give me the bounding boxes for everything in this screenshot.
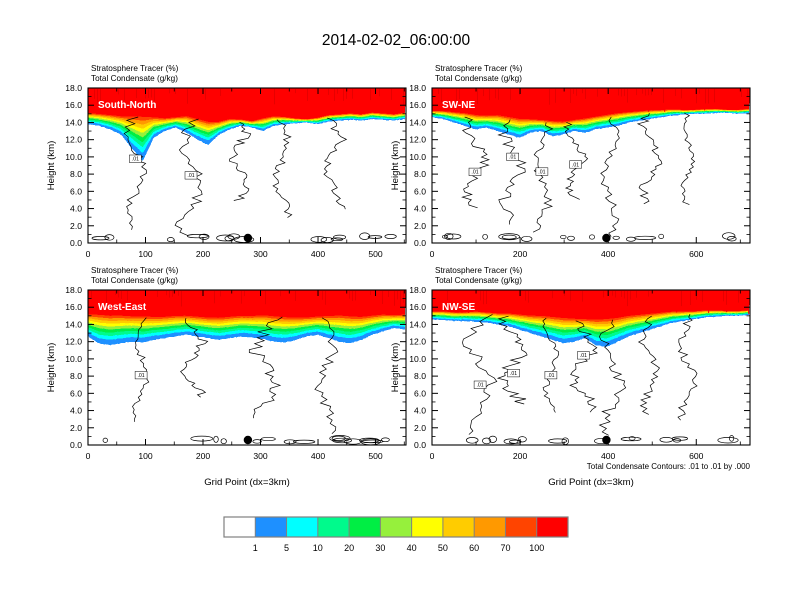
y-tick-label: 2.0 — [70, 423, 82, 433]
site-marker — [244, 234, 252, 242]
colorbar-segment — [443, 517, 475, 537]
y-tick-label: 8.0 — [414, 169, 426, 179]
colorbar-segment — [318, 517, 350, 537]
colorbar-tick-label: 30 — [375, 543, 385, 553]
site-marker — [602, 234, 610, 242]
y-tick-label: 8.0 — [414, 371, 426, 381]
y-tick-label: 16.0 — [409, 302, 426, 312]
contour-value-label: .01 — [536, 168, 548, 176]
x-tick-label: 600 — [689, 249, 704, 259]
panel-header-line: Total Condensate (g/kg) — [91, 74, 178, 83]
y-axis-label: Height (km) — [46, 141, 57, 191]
panel-west-east: Stratosphere Tracer (%)Total Condensate … — [46, 266, 406, 461]
y-tick-label: 6.0 — [414, 388, 426, 398]
x-tick-label: 600 — [689, 451, 704, 461]
y-tick-label: 18.0 — [65, 285, 82, 295]
panel-header-line: Stratosphere Tracer (%) — [91, 64, 179, 73]
y-tick-label: 16.0 — [65, 100, 82, 110]
colorbar-segment — [287, 517, 319, 537]
x-tick-label: 0 — [430, 451, 435, 461]
panel-header-line: Stratosphere Tracer (%) — [435, 64, 523, 73]
y-tick-label: 2.0 — [414, 221, 426, 231]
x-tick-label: 300 — [253, 451, 268, 461]
colorbar-segment — [537, 517, 569, 537]
site-marker — [602, 436, 610, 444]
colorbar-segment — [412, 517, 444, 537]
x-tick-label: 0 — [86, 249, 91, 259]
panel-south-north: Stratosphere Tracer (%)Total Condensate … — [46, 64, 406, 259]
y-tick-label: 4.0 — [70, 204, 82, 214]
x-tick-label: 400 — [311, 249, 326, 259]
y-tick-label: 2.0 — [70, 221, 82, 231]
contour-value-label: .01 — [508, 369, 520, 377]
colorbar-tick-label: 1 — [253, 543, 258, 553]
svg-text:.01: .01 — [580, 353, 587, 359]
colorbar-tick-label: 60 — [469, 543, 479, 553]
y-tick-label: 14.0 — [409, 117, 426, 127]
colorbar-tick-label: 100 — [529, 543, 544, 553]
y-axis-label: Height (km) — [46, 343, 57, 393]
svg-text:.01: .01 — [476, 383, 483, 389]
y-tick-label: 10.0 — [65, 354, 82, 364]
x-tick-label: 100 — [138, 451, 153, 461]
panel-header-line: Stratosphere Tracer (%) — [91, 266, 179, 275]
y-tick-label: 16.0 — [409, 100, 426, 110]
panel-label: SW-NE — [442, 100, 475, 111]
panel-data-area — [432, 88, 750, 243]
x-tick-label: 400 — [311, 451, 326, 461]
y-tick-label: 10.0 — [409, 152, 426, 162]
colorbar-segment — [474, 517, 506, 537]
x-axis-label: Grid Point (dx=3km) — [204, 477, 290, 488]
y-tick-label: 18.0 — [409, 285, 426, 295]
y-tick-label: 0.0 — [414, 238, 426, 248]
colorbar-segment — [255, 517, 287, 537]
y-tick-label: 6.0 — [70, 388, 82, 398]
x-tick-label: 400 — [601, 451, 616, 461]
y-tick-label: 16.0 — [65, 302, 82, 312]
x-tick-label: 100 — [138, 249, 153, 259]
panel-data-area — [88, 88, 406, 243]
contour-value-label: .01 — [135, 371, 147, 379]
panel-sw-ne: Stratosphere Tracer (%)Total Condensate … — [390, 64, 750, 259]
colorbar-tick-label: 20 — [344, 543, 354, 553]
contour-value-label: .01 — [507, 153, 519, 161]
x-tick-label: 300 — [253, 249, 268, 259]
y-tick-label: 10.0 — [65, 152, 82, 162]
y-tick-label: 12.0 — [409, 135, 426, 145]
colorbar-tick-label: 10 — [313, 543, 323, 553]
y-tick-label: 0.0 — [70, 440, 82, 450]
colorbar-tick-label: 70 — [500, 543, 510, 553]
panel-label: South-North — [98, 100, 156, 111]
y-tick-label: 4.0 — [70, 406, 82, 416]
x-tick-label: 400 — [601, 249, 616, 259]
figure-canvas: 2014-02-02_06:00:00 Stratosphere Tracer … — [0, 0, 792, 612]
colorbar-segment — [380, 517, 412, 537]
y-tick-label: 2.0 — [414, 423, 426, 433]
colorbar-segment — [224, 517, 256, 537]
svg-text:.01: .01 — [509, 155, 516, 161]
contour-value-label: .01 — [129, 155, 141, 163]
panel-label: NW-SE — [442, 302, 475, 313]
contour-value-label: .01 — [474, 381, 486, 389]
y-tick-label: 6.0 — [70, 186, 82, 196]
colorbar-segment — [505, 517, 537, 537]
svg-text:.01: .01 — [510, 371, 517, 377]
y-tick-label: 8.0 — [70, 169, 82, 179]
y-tick-label: 10.0 — [409, 354, 426, 364]
y-tick-label: 4.0 — [414, 406, 426, 416]
page-title: 2014-02-02_06:00:00 — [322, 32, 471, 49]
svg-text:.01: .01 — [572, 162, 579, 168]
colorbar-segment — [349, 517, 381, 537]
y-tick-label: 0.0 — [414, 440, 426, 450]
y-tick-label: 14.0 — [409, 319, 426, 329]
panel-header-line: Total Condensate (g/kg) — [435, 74, 522, 83]
x-tick-label: 500 — [368, 249, 383, 259]
y-tick-label: 12.0 — [65, 337, 82, 347]
contour-value-label: .01 — [185, 172, 197, 180]
x-tick-label: 200 — [196, 249, 211, 259]
panel-header-line: Total Condensate (g/kg) — [91, 276, 178, 285]
panel-header-line: Total Condensate (g/kg) — [435, 276, 522, 285]
panel-label: West-East — [98, 302, 147, 313]
colorbar-tick-label: 40 — [407, 543, 417, 553]
y-axis-label: Height (km) — [390, 343, 401, 393]
x-tick-label: 0 — [430, 249, 435, 259]
y-tick-label: 18.0 — [65, 83, 82, 93]
y-tick-label: 12.0 — [409, 337, 426, 347]
y-tick-label: 12.0 — [65, 135, 82, 145]
contour-value-label: .01 — [577, 352, 589, 360]
y-tick-label: 4.0 — [414, 204, 426, 214]
x-tick-label: 0 — [86, 451, 91, 461]
x-tick-label: 200 — [196, 451, 211, 461]
colorbar-tick-label: 5 — [284, 543, 289, 553]
contour-value-label: .01 — [570, 161, 582, 169]
svg-text:.01: .01 — [538, 169, 545, 175]
contour-note: Total Condensate Contours: .01 to .01 by… — [587, 462, 751, 471]
panel-nw-se: Stratosphere Tracer (%)Total Condensate … — [390, 266, 750, 461]
svg-text:.01: .01 — [187, 173, 194, 179]
svg-text:.01: .01 — [137, 373, 144, 379]
x-tick-label: 500 — [368, 451, 383, 461]
colorbar-tick-label: 50 — [438, 543, 448, 553]
panel-header-line: Stratosphere Tracer (%) — [435, 266, 523, 275]
y-tick-label: 6.0 — [414, 186, 426, 196]
svg-text:.01: .01 — [132, 157, 139, 163]
contour-value-label: .01 — [469, 168, 481, 176]
x-tick-label: 200 — [513, 451, 528, 461]
x-tick-label: 200 — [513, 249, 528, 259]
y-tick-label: 14.0 — [65, 117, 82, 127]
x-axis-label: Grid Point (dx=3km) — [548, 477, 634, 488]
svg-text:.01: .01 — [471, 170, 478, 176]
panel-data-area — [432, 290, 750, 445]
site-marker — [244, 436, 252, 444]
y-tick-label: 0.0 — [70, 238, 82, 248]
svg-text:.01: .01 — [547, 373, 554, 379]
panel-data-area — [88, 290, 406, 445]
contour-value-label: .01 — [545, 371, 557, 379]
y-tick-label: 8.0 — [70, 371, 82, 381]
y-axis-label: Height (km) — [390, 141, 401, 191]
y-tick-label: 18.0 — [409, 83, 426, 93]
y-tick-label: 14.0 — [65, 319, 82, 329]
